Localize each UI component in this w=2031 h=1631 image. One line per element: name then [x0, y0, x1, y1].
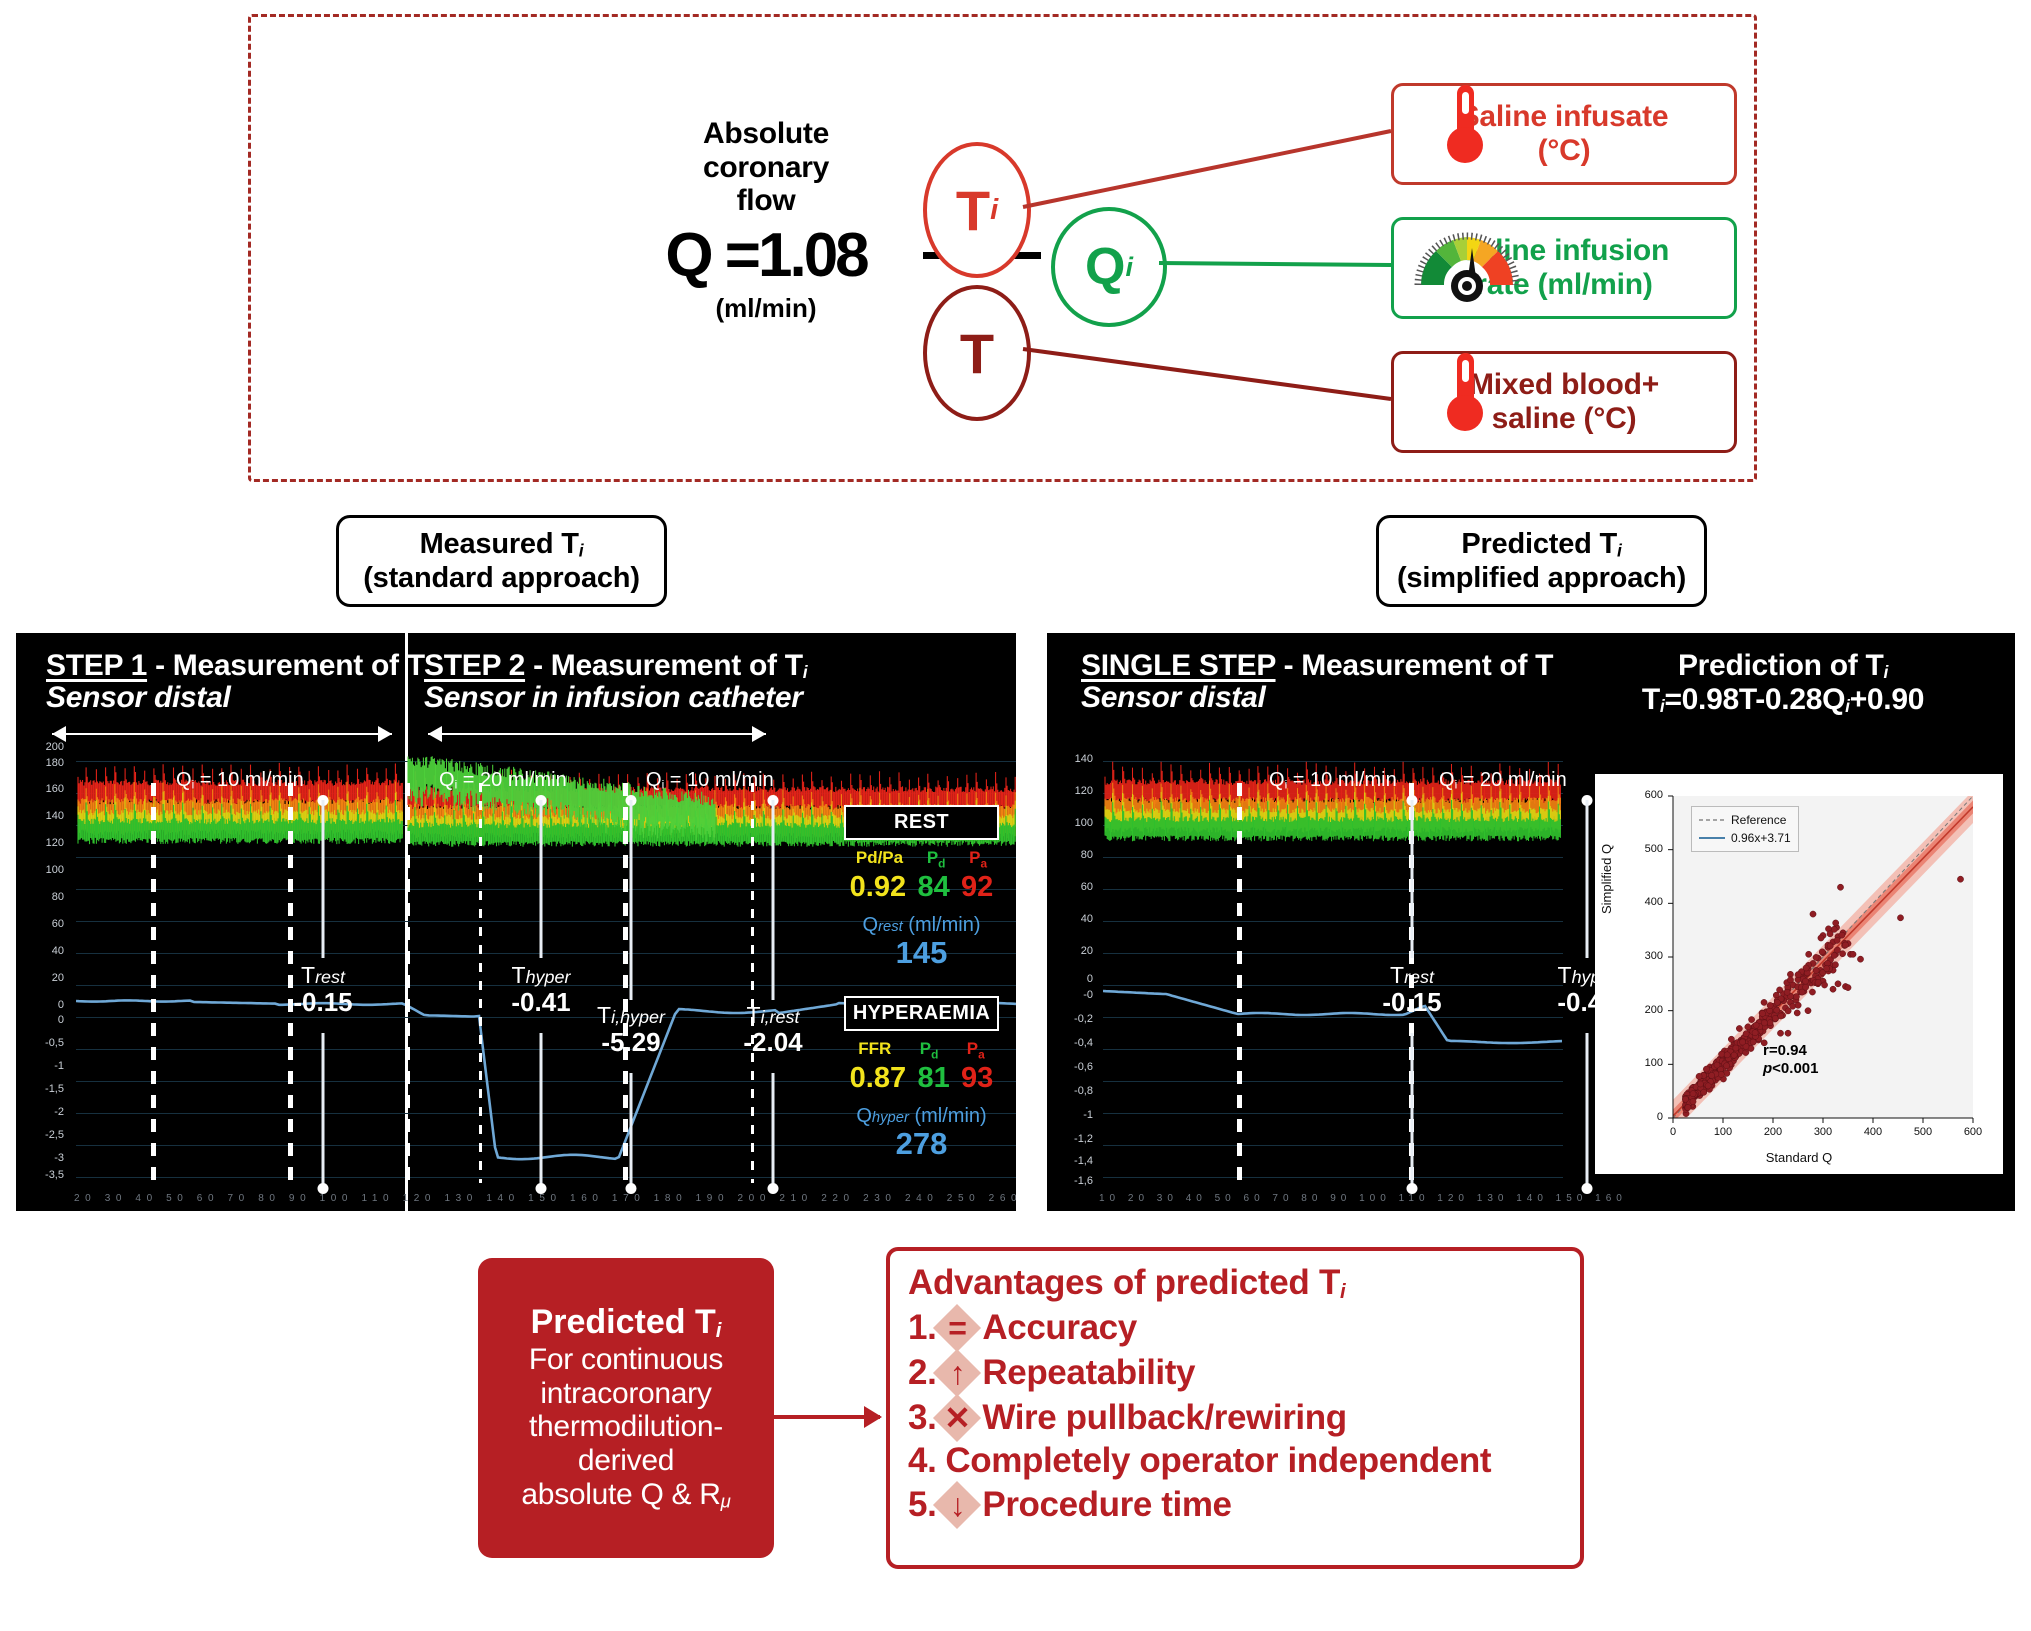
thermometer-icon	[1441, 85, 1489, 177]
scatter-y-tick: 500	[1635, 843, 1663, 855]
y-tick: 80	[1057, 849, 1093, 861]
qi-subscript: i	[1125, 252, 1133, 283]
infusion-rate-label: Qi = 10 ml/min	[1269, 769, 1397, 792]
temperature-mark: Ti,hyper -5.29	[556, 795, 706, 1195]
advantage-item-wire-pullback: 3. ✕ Wire pullback/rewiring	[908, 1398, 1580, 1438]
formula-q-expression: Q =1.08	[665, 220, 866, 291]
y-tick: -1,4	[1057, 1155, 1093, 1167]
cross-icon: ✕	[937, 1398, 977, 1438]
scatter-statistics: r=0.94 p<0.001	[1763, 1042, 1818, 1077]
segment-divider	[151, 783, 156, 1183]
hyper-value-ffr: 0.87	[850, 1062, 906, 1095]
predicted-ti-summary-box: Predicted Ti For continuous intracoronar…	[478, 1258, 774, 1558]
step1-header: STEP 1 - Measurement of T Sensor distal	[46, 649, 425, 715]
predicted-box-line2: intracoronary	[521, 1377, 730, 1411]
y-tick: 120	[28, 837, 64, 849]
y-tick: 100	[1057, 817, 1093, 829]
y-tick: -0,4	[1057, 1037, 1093, 1049]
hyper-header-ffr: FFR	[858, 1039, 891, 1061]
advantage-label: Completely operator independent	[945, 1443, 1491, 1480]
rest-q-label: Qrest (ml/min)	[844, 914, 999, 937]
scatter-y-tick: 600	[1635, 789, 1663, 801]
scatter-y-tick: 0	[1635, 1111, 1663, 1123]
infusion-rate-label: Qi = 20 ml/min	[439, 769, 567, 792]
y-tick: -3,5	[28, 1169, 64, 1181]
y-tick: -1	[1057, 1109, 1093, 1121]
scatter-y-tick: 300	[1635, 950, 1663, 962]
y-tick: -2,5	[28, 1129, 64, 1141]
y-tick: 60	[1057, 881, 1093, 893]
y-tick: 40	[1057, 913, 1093, 925]
hyper-header-pd: Pd	[920, 1039, 939, 1061]
advantage-label: Wire pullback/rewiring	[982, 1400, 1346, 1437]
thermometer-bulb	[1447, 127, 1483, 163]
mixed-blood-line2: saline (°C)	[1469, 402, 1659, 437]
y-tick: 40	[28, 945, 64, 957]
scatter-x-tick: 100	[1711, 1126, 1735, 1138]
formula-caption: Absolute coronary flow	[636, 117, 896, 218]
predicted-box-line3: thermodilution-	[521, 1410, 730, 1444]
scatter-x-tick: 500	[1911, 1126, 1935, 1138]
formula-equation: Q =1.08	[636, 220, 896, 291]
prediction-header: Prediction of Ti Ti=0.98T-0.28Qi+0.90	[1563, 649, 2003, 717]
y-tick: -2	[28, 1106, 64, 1118]
predicted-ti-line1: Predicted Ti	[1461, 527, 1621, 561]
hyper-q-value: 278	[844, 1128, 999, 1161]
y-tick: -1	[28, 1060, 64, 1072]
advantage-item-procedure-time: 5. ↓ Procedure time	[908, 1485, 1580, 1525]
advantage-label: Procedure time	[982, 1487, 1231, 1524]
formula-units: (ml/min)	[636, 293, 896, 324]
saline-infusate-line2: (°C)	[1460, 134, 1669, 169]
rest-header-pa: Pa	[969, 848, 987, 870]
label-predicted-ti: Predicted Ti (simplified approach)	[1376, 515, 1707, 607]
formula-block: Absolute coronary flow Q =1.08 (ml/min)	[636, 117, 896, 324]
arrow-down-icon: ↓	[937, 1485, 977, 1525]
y-tick: 20	[28, 972, 64, 984]
gauge-icon	[1411, 207, 1523, 307]
formula-panel: Absolute coronary flow Q =1.08 (ml/min) …	[248, 14, 1757, 482]
scatter-y-tick: 400	[1635, 896, 1663, 908]
rest-value-pa: 92	[961, 871, 993, 904]
step1-range-arrow	[52, 733, 392, 735]
y-tick: -1,2	[1057, 1133, 1093, 1145]
pressure-and-temperature-traces	[1103, 739, 1563, 1209]
legend-entry-reference: Reference	[1699, 811, 1791, 829]
scatter-legend: Reference 0.96x+3.71	[1691, 806, 1799, 852]
dashed-line-icon	[1699, 816, 1725, 824]
correlation-r: r=0.94	[1763, 1042, 1818, 1060]
y-tick: -0,6	[1057, 1061, 1093, 1073]
rest-q-value: 145	[844, 937, 999, 970]
y-tick: 20	[1057, 945, 1093, 957]
predicted-box-line4: derived	[521, 1444, 730, 1478]
hyper-value-pd: 81	[917, 1062, 949, 1095]
y-tick: 200	[28, 741, 64, 753]
mixed-blood-line1: Mixed blood+	[1469, 368, 1659, 403]
y-tick: -0,8	[1057, 1085, 1093, 1097]
temperature-mark: Trest -0.15	[248, 795, 398, 1195]
y-tick: -0,2	[1057, 1013, 1093, 1025]
rest-header-pdpa: Pd/Pa	[856, 848, 903, 870]
advantages-box: Advantages of predicted Ti 1. = Accuracy…	[886, 1247, 1584, 1569]
thermometer-icon	[1441, 353, 1489, 445]
x-tick-labels: 20 30 40 50 60 70 80 90 100 110 120 130 …	[74, 1193, 1016, 1204]
advantage-item-operator-independent: 4. Completely operator independent	[908, 1443, 1580, 1480]
segment-divider	[1237, 783, 1242, 1183]
measured-ti-line2: (standard approach)	[363, 561, 640, 595]
y-tick: 140	[28, 810, 64, 822]
solid-line-icon	[1699, 834, 1725, 842]
y-tick: 80	[28, 891, 64, 903]
measured-ti-line1: Measured Ti	[420, 527, 584, 561]
arrow-up-icon: ↑	[937, 1353, 977, 1393]
advantage-label: Repeatability	[982, 1355, 1195, 1392]
temperature-mark: Ti,rest -2.04	[698, 795, 848, 1195]
y-tick: 60	[28, 918, 64, 930]
scatter-x-tick: 600	[1961, 1126, 1985, 1138]
rest-readout: REST Pd/Pa Pd Pa 0.92 84 92 Qrest (ml/mi…	[844, 805, 999, 970]
y-tick: -1,6	[1057, 1175, 1093, 1187]
temperature-mark: Trest -0.15	[1337, 795, 1487, 1195]
y-tick: 0	[28, 1014, 64, 1026]
predicted-box-line1: For continuous	[521, 1343, 730, 1377]
arrow-connector	[774, 1415, 880, 1419]
step2-header: STEP 2 - Measurement of Ti Sensor in inf…	[424, 649, 807, 715]
y-tick: -1,5	[28, 1083, 64, 1095]
scatter-x-tick: 400	[1861, 1126, 1885, 1138]
correlation-scatter-plot: Simplified Q Standard Q 0100200300400500…	[1595, 774, 2003, 1174]
y-tick: 160	[28, 783, 64, 795]
rest-value-pdpa: 0.92	[850, 871, 906, 904]
scatter-y-label: Simplified Q	[1599, 844, 1614, 914]
y-tick: 180	[28, 757, 64, 769]
advantage-item-accuracy: 1. = Accuracy	[908, 1308, 1580, 1348]
label-measured-ti: Measured Ti (standard approach)	[336, 515, 667, 607]
y-tick: -3	[28, 1152, 64, 1164]
standard-approach-chart: STEP 1 - Measurement of T Sensor distal …	[16, 633, 1016, 1211]
rest-header-pd: Pd	[927, 848, 946, 870]
saline-infusate-line1: Saline infusate	[1460, 100, 1669, 135]
hyper-header-pa: Pa	[967, 1039, 985, 1061]
single-step-header: SINGLE STEP - Measurement of T Sensor di…	[1081, 649, 1553, 715]
rest-caption: REST	[844, 805, 999, 840]
predicted-box-body: For continuous intracoronary thermodilut…	[521, 1343, 730, 1512]
predicted-box-title: Predicted Ti	[531, 1304, 722, 1343]
t-symbol: T	[960, 321, 994, 386]
t-oval: T	[923, 285, 1031, 421]
qi-symbol: Q	[1085, 237, 1125, 297]
hyperaemia-caption: HYPERAEMIA	[844, 996, 999, 1031]
y-tick: 140	[1057, 753, 1093, 765]
predicted-box-line5: absolute Q & Rμ	[521, 1478, 730, 1513]
formula-caption-line1: Absolute	[636, 117, 896, 151]
ti-symbol: T	[956, 178, 990, 243]
scatter-x-tick: 0	[1661, 1126, 1685, 1138]
scatter-x-tick: 200	[1761, 1126, 1785, 1138]
scatter-y-tick: 200	[1635, 1004, 1663, 1016]
y-tick: -0,5	[28, 1037, 64, 1049]
thermometer-bulb	[1447, 395, 1483, 431]
qi-oval: Qi	[1051, 207, 1167, 327]
x-tick-labels: 10 20 30 40 50 60 70 80 90 100 110 120 1…	[1099, 1193, 1627, 1204]
formula-caption-line2: coronary	[636, 151, 896, 185]
advantage-label: Accuracy	[982, 1310, 1136, 1347]
p-value: p<0.001	[1763, 1060, 1818, 1078]
segment-divider	[405, 783, 410, 1183]
infusion-rate-label: Qi = 20 ml/min	[1439, 769, 1567, 792]
scatter-y-tick: 100	[1635, 1057, 1663, 1069]
advantages-title: Advantages of predicted Ti	[908, 1265, 1580, 1303]
rest-value-pd: 84	[917, 871, 949, 904]
infusion-rate-label: Qi = 10 ml/min	[176, 769, 304, 792]
ti-oval: Ti	[923, 142, 1031, 278]
y-tick: -0	[1057, 989, 1093, 1001]
y-tick: 100	[28, 864, 64, 876]
formula-caption-line3: flow	[636, 184, 896, 218]
advantage-item-repeatability: 2. ↑ Repeatability	[908, 1353, 1580, 1393]
ti-subscript: i	[990, 194, 998, 227]
legend-entry-fit: 0.96x+3.71	[1699, 829, 1791, 847]
scatter-x-tick: 300	[1811, 1126, 1835, 1138]
step2-range-arrow	[428, 733, 766, 735]
scatter-x-label: Standard Q	[1595, 1150, 2003, 1165]
hyperaemia-readout: HYPERAEMIA FFR Pd Pa 0.87 81 93 Qhyper (…	[844, 996, 999, 1161]
hyper-value-pa: 93	[961, 1062, 993, 1095]
hyper-q-label: Qhyper (ml/min)	[844, 1105, 999, 1128]
y-tick: 0	[28, 999, 64, 1011]
equals-icon: =	[937, 1308, 977, 1348]
y-tick: 120	[1057, 785, 1093, 797]
predicted-ti-line2: (simplified approach)	[1397, 561, 1686, 595]
y-tick: 0	[1057, 973, 1093, 985]
infusion-rate-label: Qi = 10 ml/min	[646, 769, 774, 792]
